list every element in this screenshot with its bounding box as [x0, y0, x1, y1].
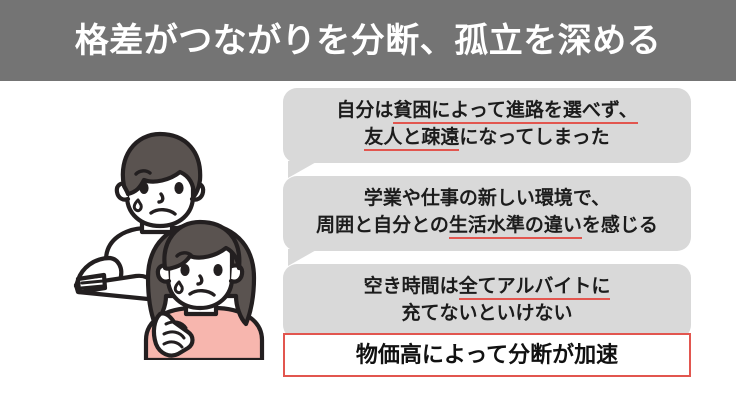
bubble-1-seg-2-underlined: 貧困によって進路を選べず、	[393, 100, 637, 124]
bubble-2-line-1: 学業や仕事の新しい環境で、	[297, 186, 677, 213]
bubble-2-line-2: 周囲と自分との生活水準の違いを感じる	[297, 213, 677, 240]
bubble-1-line-2: 友人と疎遠になってしまった	[297, 125, 677, 152]
bubble-2-seg-1: 学業や仕事の新しい環境で、	[364, 188, 610, 209]
header-bar: 格差がつながりを分断、孤立を深める	[0, 0, 736, 81]
woman-eye-right	[213, 264, 222, 276]
conclusion-text: 物価高によって分断が加速	[356, 344, 618, 366]
man-eye-left	[139, 182, 148, 194]
man-sweat-drop	[134, 200, 141, 211]
speech-bubble-2: 学業や仕事の新しい環境で、 周囲と自分との生活水準の違いを感じる	[283, 176, 691, 251]
worried-couple-illustration	[48, 128, 276, 360]
bubble-2-seg-3-underlined: 生活水準の違い	[449, 215, 582, 239]
bubble-3-line-1: 空き時間は全てアルバイトに	[297, 274, 677, 301]
bubble-1-seg-1: 自分は	[336, 100, 393, 121]
woman-sweat-drop	[175, 282, 182, 293]
bubble-3-line-2: 充てないといけない	[297, 301, 677, 328]
bubble-2-seg-2: 周囲と自分との	[316, 215, 449, 236]
bubble-1-line-1: 自分は貧困によって進路を選べず、	[297, 98, 677, 125]
conclusion-box: 物価高によって分断が加速	[283, 333, 691, 377]
speech-bubble-3: 空き時間は全てアルバイトに 充てないといけない	[283, 264, 691, 339]
page-title: 格差がつながりを分断、孤立を深める	[75, 24, 662, 58]
bubble-3-seg-2-underlined: 全てアルバイトに	[459, 276, 611, 300]
woman-eye-left	[180, 264, 189, 276]
speech-bubble-1: 自分は貧困によって進路を選べず、 友人と疎遠になってしまった	[283, 88, 691, 163]
bubble-1-seg-3-underlined: 友人と疎遠	[364, 127, 459, 151]
bubble-2-seg-4: を感じる	[582, 215, 658, 236]
speech-bubble-list: 自分は貧困によって進路を選べず、 友人と疎遠になってしまった 学業や仕事の新しい…	[283, 88, 691, 352]
bubble-3-seg-1: 空き時間は	[364, 276, 459, 297]
man-eye-right	[174, 182, 183, 194]
bubble-1-seg-4: になってしまった	[459, 127, 609, 148]
bubble-3-seg-3: 充てないといけない	[401, 303, 572, 324]
